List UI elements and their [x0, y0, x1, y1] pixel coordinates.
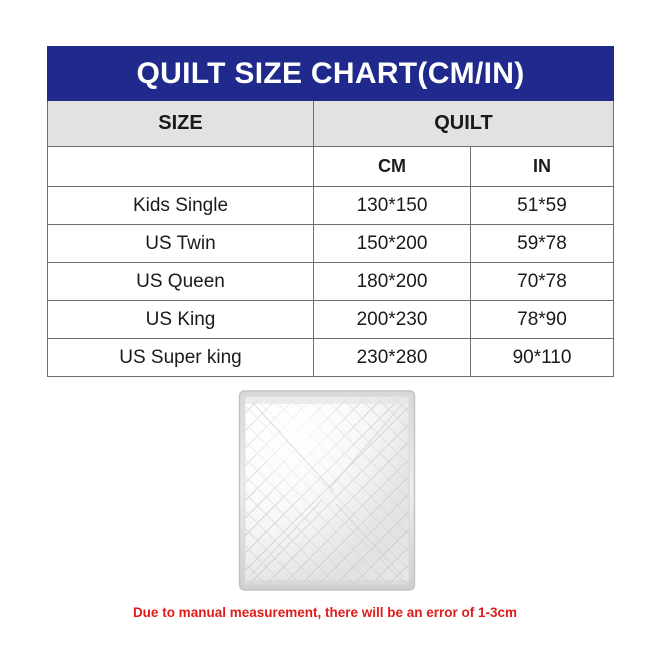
table-row: US Twin 150*200 59*78	[48, 225, 614, 263]
cell-cm: 150*200	[314, 225, 471, 263]
column-header-quilt: QUILT	[314, 101, 614, 147]
cell-size: US Queen	[48, 263, 314, 301]
quilt-product-image	[238, 388, 416, 593]
subheader-blank-cell	[48, 147, 314, 187]
cell-size: US Super king	[48, 339, 314, 377]
table-title-row: QUILT SIZE CHART(CM/IN)	[48, 47, 614, 101]
column-subheader-in: IN	[471, 147, 614, 187]
table-row: US Queen 180*200 70*78	[48, 263, 614, 301]
quilt-illustration	[238, 388, 416, 593]
cell-in: 51*59	[471, 187, 614, 225]
cell-cm: 130*150	[314, 187, 471, 225]
column-header-size: SIZE	[48, 101, 314, 147]
table-header-row: SIZE QUILT	[48, 101, 614, 147]
quilt-size-chart-table: QUILT SIZE CHART(CM/IN) SIZE QUILT CM IN…	[47, 46, 614, 377]
cell-in: 59*78	[471, 225, 614, 263]
table-row: US King 200*230 78*90	[48, 301, 614, 339]
column-subheader-cm: CM	[314, 147, 471, 187]
cell-cm: 230*280	[314, 339, 471, 377]
table-subheader-row: CM IN	[48, 147, 614, 187]
cell-in: 90*110	[471, 339, 614, 377]
size-chart-page: QUILT SIZE CHART(CM/IN) SIZE QUILT CM IN…	[0, 0, 650, 650]
table-row: US Super king 230*280 90*110	[48, 339, 614, 377]
measurement-disclaimer: Due to manual measurement, there will be…	[0, 605, 650, 620]
table-row: Kids Single 130*150 51*59	[48, 187, 614, 225]
quilt-top-fold	[245, 397, 409, 405]
cell-size: US King	[48, 301, 314, 339]
cell-size: Kids Single	[48, 187, 314, 225]
cell-in: 70*78	[471, 263, 614, 301]
page-title: QUILT SIZE CHART(CM/IN)	[48, 47, 614, 101]
cell-in: 78*90	[471, 301, 614, 339]
cell-size: US Twin	[48, 225, 314, 263]
quilt-bottom-shadow	[247, 580, 407, 586]
cell-cm: 200*230	[314, 301, 471, 339]
cell-cm: 180*200	[314, 263, 471, 301]
